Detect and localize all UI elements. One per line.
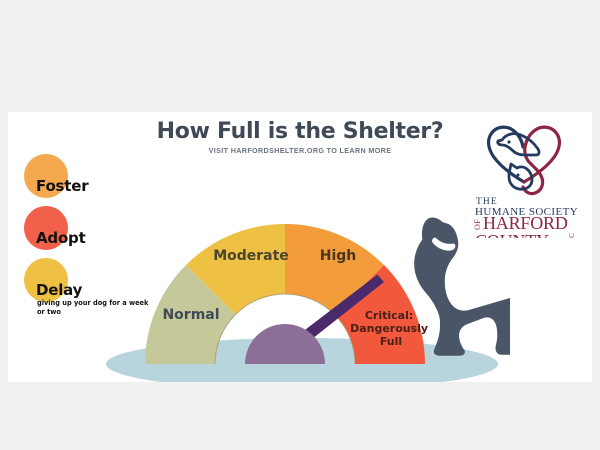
legend-label-delay: Delay	[36, 281, 82, 299]
logo-cat-head-icon	[509, 164, 532, 189]
dog-silhouette-icon	[414, 218, 510, 356]
humane-society-logo: THE HUMANE SOCIETY OF HARFORD COUNTY INC	[462, 120, 586, 238]
gauge-graphic: Normal Moderate High Critical: Dangerous…	[90, 164, 510, 382]
logo-graphic: THE HUMANE SOCIETY OF HARFORD COUNTY INC	[462, 120, 586, 238]
legend-label-adopt: Adopt	[36, 229, 86, 247]
gauge-label-moderate: Moderate	[213, 248, 289, 264]
logo-line-inc: INC	[568, 233, 576, 238]
legend-label-foster: Foster	[36, 177, 88, 195]
gauge-label-critical-line1: Critical:	[365, 309, 413, 322]
infographic-panel: How Full is the Shelter? VISIT HARFORDSH…	[8, 112, 592, 382]
logo-line-of: OF	[473, 219, 482, 230]
gauge-label-normal: Normal	[162, 307, 219, 323]
logo-line-county: COUNTY	[475, 231, 549, 238]
gauge-label-critical-line3: Full	[380, 335, 402, 348]
shelter-capacity-gauge: Normal Moderate High Critical: Dangerous…	[90, 164, 510, 382]
gauge-label-critical-line2: Dangerously	[350, 322, 428, 335]
gauge-label-high: High	[320, 248, 357, 264]
logo-line-harford: HARFORD	[483, 213, 568, 233]
